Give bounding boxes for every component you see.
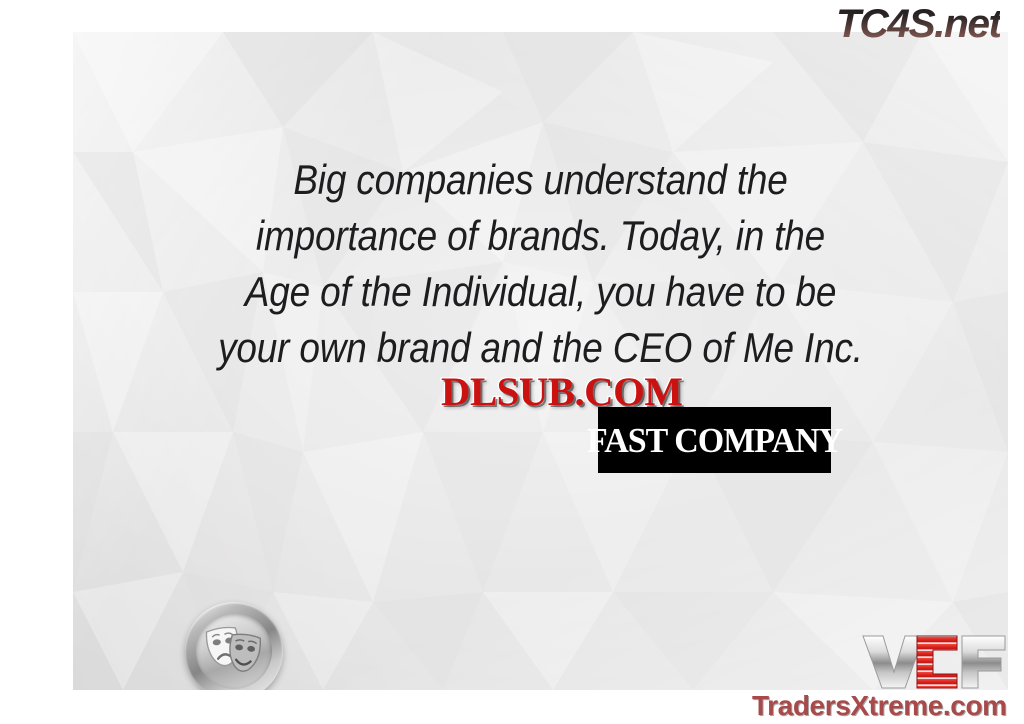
tradersxtreme-watermark: TradersXtreme.com bbox=[752, 690, 1007, 722]
fast-company-logo: FAST COMPANY bbox=[598, 407, 831, 473]
dlsub-watermark: DLSUB.COM bbox=[441, 370, 682, 414]
fast-company-logo-text: FAST COMPANY bbox=[587, 423, 842, 458]
theater-masks-icon bbox=[203, 620, 265, 682]
theater-masks-badge[interactable] bbox=[185, 602, 283, 690]
slide-canvas: Big companies understand the importance … bbox=[73, 32, 1008, 690]
tc4s-site-logo[interactable]: TC4S.net bbox=[836, 2, 1001, 46]
badge-inner-disc bbox=[196, 613, 272, 689]
quote-text: Big companies understand the importance … bbox=[173, 152, 908, 376]
vcf-logo bbox=[861, 630, 1008, 690]
